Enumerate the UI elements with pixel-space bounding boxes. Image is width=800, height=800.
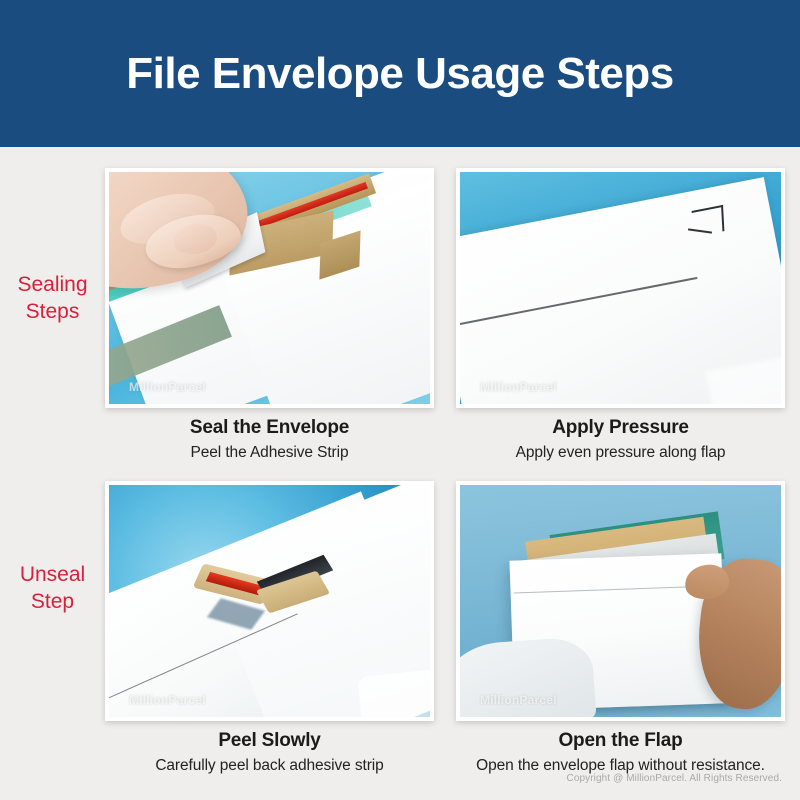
step-photo-apply-pressure: MillionParcel: [456, 168, 785, 408]
step-card-peel-slowly: MillionParcel Peel Slowly Carefully peel…: [105, 481, 434, 777]
step-photo-peel-slowly: MillionParcel: [105, 481, 434, 721]
step-card-seal-the-envelope: MillionParcel Seal the Envelope Peel the…: [105, 168, 434, 464]
step-subtitle-apply-pressure: Apply even pressure along flap: [456, 443, 785, 464]
white-cloth-prop: [456, 636, 597, 721]
background-corner-light: [357, 669, 434, 721]
photo-watermark: MillionParcel: [129, 380, 206, 394]
row-label-sealing-line1: Sealing: [0, 272, 105, 299]
row-label-unseal-line2: Step: [0, 589, 105, 616]
row-label-unseal-step: Unseal Step: [0, 562, 105, 616]
steps-row-sealing: MillionParcel Seal the Envelope Peel the…: [105, 168, 785, 464]
photo-watermark: MillionParcel: [480, 380, 557, 394]
step-title-seal-the-envelope: Seal the Envelope: [105, 417, 434, 440]
photo-watermark: MillionParcel: [129, 693, 206, 707]
page-title: File Envelope Usage Steps: [126, 52, 673, 96]
step-caption: Seal the Envelope Peel the Adhesive Stri…: [105, 408, 434, 464]
step-title-apply-pressure: Apply Pressure: [456, 417, 785, 440]
row-label-unseal-line1: Unseal: [0, 562, 105, 589]
page-header: File Envelope Usage Steps: [0, 0, 800, 147]
step-caption: Peel Slowly Carefully peel back adhesive…: [105, 721, 434, 777]
steps-grid: MillionParcel Seal the Envelope Peel the…: [105, 168, 785, 776]
step-caption: Apply Pressure Apply even pressure along…: [456, 408, 785, 464]
step-photo-open-the-flap: MillionParcel: [456, 481, 785, 721]
step-title-peel-slowly: Peel Slowly: [105, 730, 434, 753]
step-subtitle-peel-slowly: Carefully peel back adhesive strip: [105, 756, 434, 777]
steps-row-unseal: MillionParcel Peel Slowly Carefully peel…: [105, 481, 785, 777]
photo-watermark: MillionParcel: [480, 693, 557, 707]
row-label-sealing-line2: Steps: [0, 299, 105, 326]
copyright-text: Copyright @ MillionParcel. All Rights Re…: [567, 773, 783, 784]
step-caption: Open the Flap Open the envelope flap wit…: [456, 721, 785, 777]
infographic-page: File Envelope Usage Steps Sealing Steps …: [0, 0, 800, 800]
step-card-open-the-flap: MillionParcel Open the Flap Open the env…: [456, 481, 785, 777]
step-subtitle-seal-the-envelope: Peel the Adhesive Strip: [105, 443, 434, 464]
row-label-sealing-steps: Sealing Steps: [0, 272, 105, 326]
step-card-apply-pressure: MillionParcel Apply Pressure Apply even …: [456, 168, 785, 464]
step-photo-seal-the-envelope: MillionParcel: [105, 168, 434, 408]
step-title-open-the-flap: Open the Flap: [456, 730, 785, 753]
